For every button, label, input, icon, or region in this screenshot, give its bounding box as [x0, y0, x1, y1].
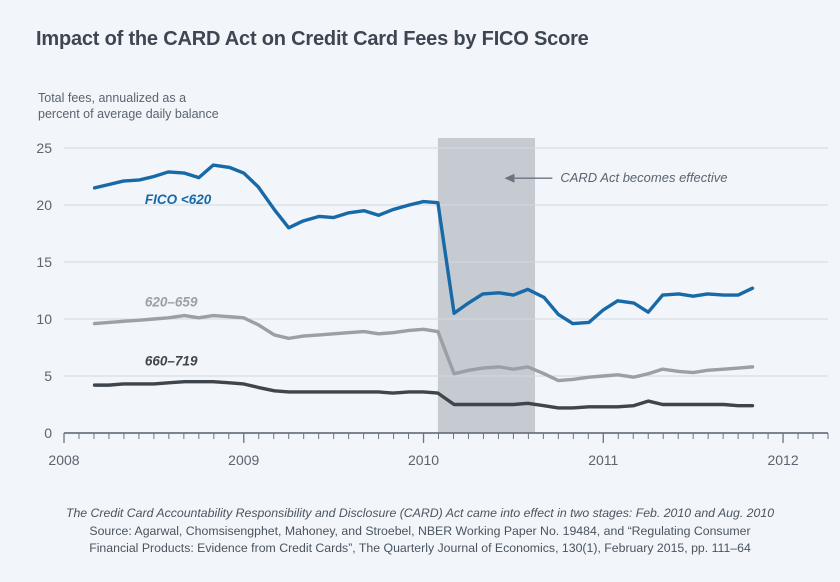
series-line: [95, 316, 753, 381]
footnote-note: The Credit Card Accountability Responsib…: [0, 505, 840, 523]
x-axis-tick-labels: 20082009201020112012: [48, 452, 798, 468]
y-tick-label: 5: [44, 368, 52, 384]
y-tick-label: 15: [36, 254, 52, 270]
y-tick-label: 0: [44, 425, 52, 441]
annotation-group: CARD Act becomes effective: [504, 170, 727, 185]
x-tick-label: 2009: [228, 452, 259, 468]
series-line: [95, 382, 753, 408]
annotation-text: CARD Act becomes effective: [560, 170, 727, 185]
footnote-source-line1: Source: Agarwal, Chomsisengphet, Mahoney…: [0, 523, 840, 541]
x-tick-label: 2008: [48, 452, 79, 468]
x-tick-label: 2012: [767, 452, 798, 468]
y-tick-label: 20: [36, 197, 52, 213]
footnote: The Credit Card Accountability Responsib…: [0, 505, 840, 558]
series-label: 620–659: [145, 294, 198, 309]
series-label: 660–719: [145, 354, 198, 369]
x-tick-label: 2011: [588, 452, 618, 468]
shaded-region: [438, 138, 535, 433]
footnote-source-line2: Financial Products: Evidence from Credit…: [0, 540, 840, 558]
series-label-group: FICO <620620–659660–719: [145, 192, 212, 369]
shaded-region-group: [438, 138, 535, 433]
chart-container: 0510152025 20082009201020112012 FICO <62…: [0, 0, 840, 582]
line-chart: 0510152025 20082009201020112012 FICO <62…: [0, 0, 840, 582]
y-axis-tick-labels: 0510152025: [36, 140, 52, 441]
y-tick-label: 10: [36, 311, 52, 327]
y-tick-label: 25: [36, 140, 52, 156]
x-tick-label: 2010: [408, 452, 439, 468]
x-axis: [64, 433, 828, 443]
series-label: FICO <620: [145, 192, 212, 207]
